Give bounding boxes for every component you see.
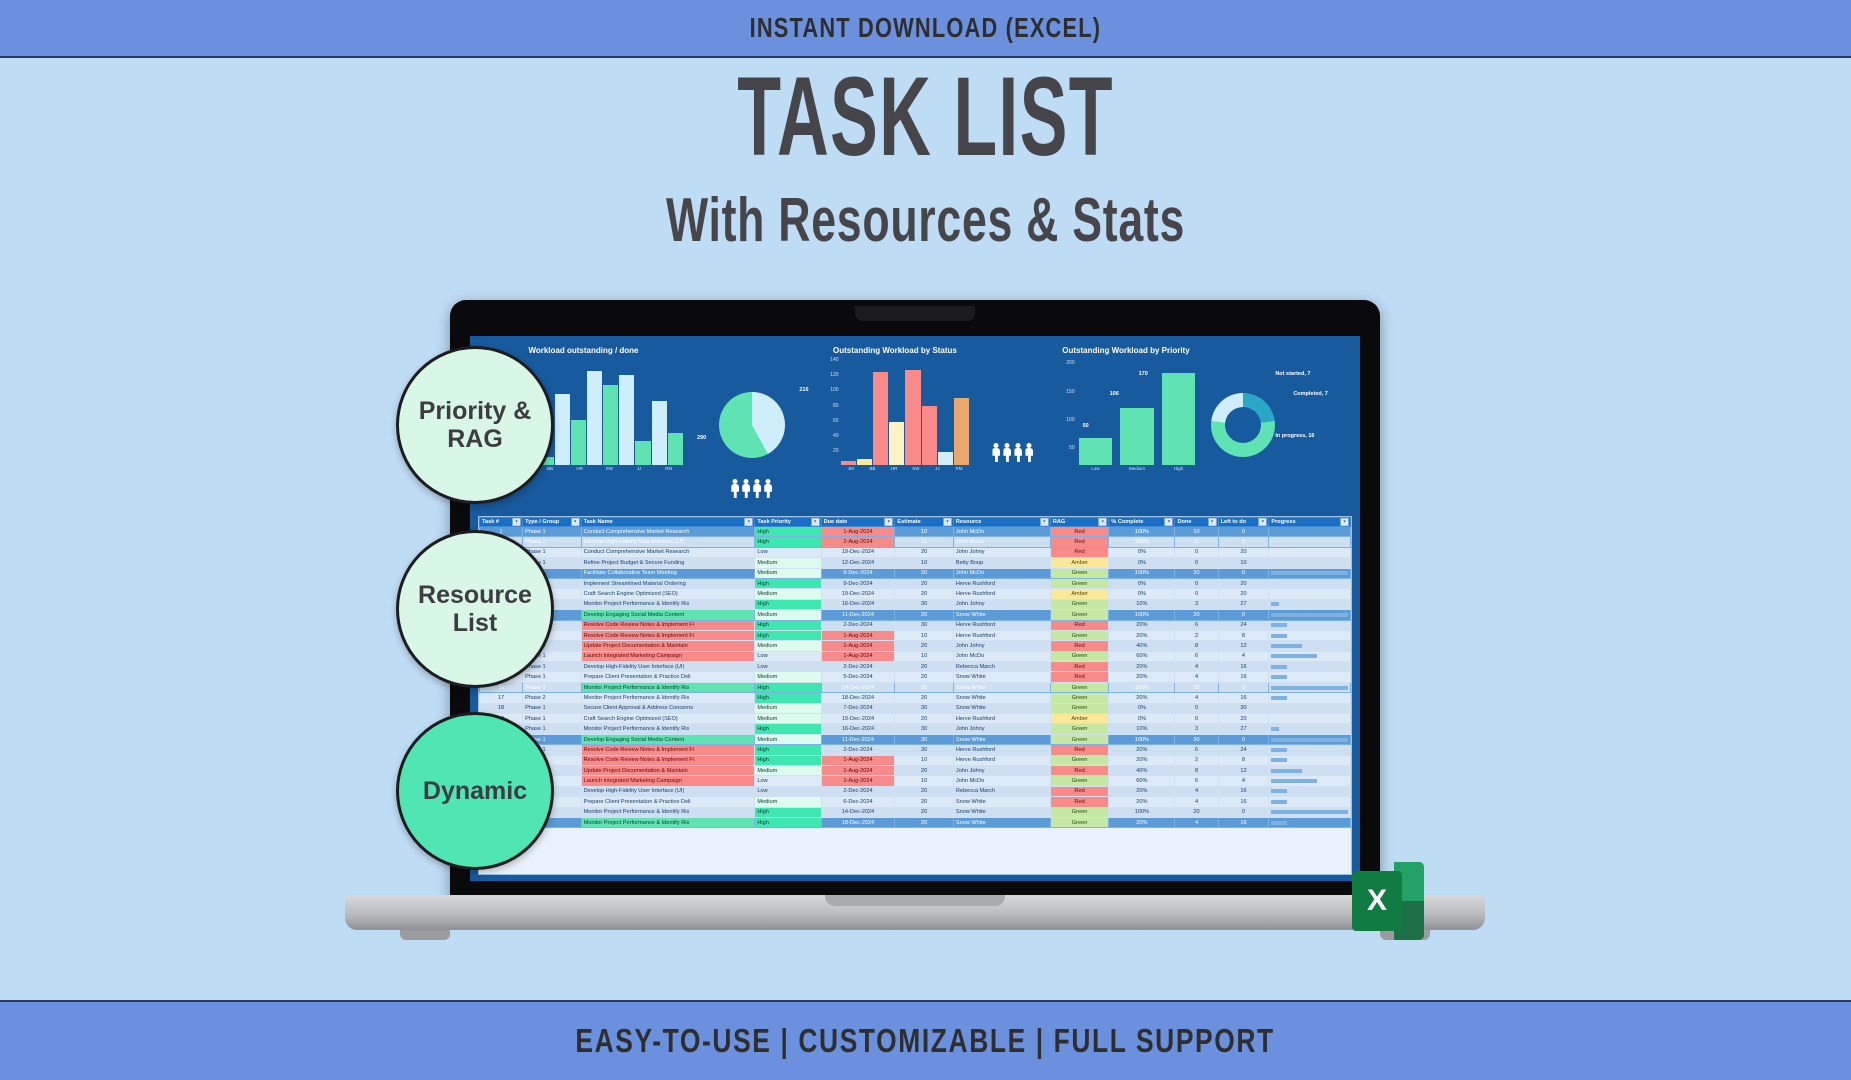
cell-progress[interactable] <box>1269 620 1351 630</box>
table-row[interactable]: 18Phase 1Secure Client Approval & Addres… <box>480 703 1351 713</box>
cell-estimate[interactable]: 20 <box>895 797 953 807</box>
cell-rag[interactable]: Red <box>1050 620 1108 630</box>
cell-task-name[interactable]: Develop Engaging Social Media Content <box>581 610 755 620</box>
cell-task-name[interactable]: Develop Engaging Social Media Content <box>581 734 755 744</box>
cell-estimate[interactable]: 20 <box>895 714 953 724</box>
cell-percent-complete[interactable]: 20% <box>1109 693 1175 703</box>
cell-due-date[interactable]: 16-Dec-2024 <box>821 599 895 609</box>
cell-resource[interactable]: John Johny <box>953 724 1050 734</box>
cell-percent-complete[interactable]: 20% <box>1109 797 1175 807</box>
cell-percent-complete[interactable]: 20% <box>1109 662 1175 672</box>
cell-done[interactable]: 0 <box>1175 547 1218 557</box>
cell-progress[interactable] <box>1269 568 1351 578</box>
cell-due-date[interactable]: 1-Aug-2024 <box>821 765 895 775</box>
cell-task-priority[interactable]: High <box>755 578 821 588</box>
cell-type-group[interactable]: Phase 1 <box>523 724 581 734</box>
cell-percent-complete[interactable]: 20% <box>1109 817 1175 827</box>
cell-task-name[interactable]: Refine Project Budget & Secure Funding <box>581 558 755 568</box>
cell-task-priority[interactable]: High <box>755 745 821 755</box>
cell-done[interactable]: 4 <box>1175 786 1218 796</box>
cell-due-date[interactable]: 12-Dec-2024 <box>821 558 895 568</box>
cell-estimate[interactable]: 20 <box>895 807 953 817</box>
column-header-resource[interactable]: Resource▾ <box>953 518 1050 527</box>
cell-percent-complete[interactable]: 100% <box>1109 807 1175 817</box>
badge-priority-rag[interactable]: Priority & RAG <box>396 346 554 504</box>
cell-task-name[interactable]: Prepare Client Presentation & Practice D… <box>581 672 755 682</box>
cell-due-date[interactable]: 18-Dec-2024 <box>821 817 895 827</box>
cell-percent-complete[interactable]: 100% <box>1109 537 1175 547</box>
column-header-due-date[interactable]: Due date▾ <box>821 518 895 527</box>
cell-left-to-do[interactable]: 20 <box>1218 714 1269 724</box>
cell-due-date[interactable]: 1-Aug-2024 <box>821 630 895 640</box>
table-row[interactable]: 23Phase 1Resolve Code Review Notes & Imp… <box>480 755 1351 765</box>
cell-task-priority[interactable]: Medium <box>755 714 821 724</box>
column-header-percent-complete[interactable]: % Complete▾ <box>1109 518 1175 527</box>
cell-estimate[interactable]: 30 <box>895 620 953 630</box>
cell-task-priority[interactable]: Low <box>755 662 821 672</box>
cell-resource[interactable]: John Johny <box>953 641 1050 651</box>
table-row[interactable]: 24Phase 1Update Project Documentation & … <box>480 765 1351 775</box>
filter-dropdown-icon[interactable]: ▾ <box>512 518 521 527</box>
cell-progress[interactable] <box>1269 776 1351 786</box>
cell-left-to-do[interactable]: 16 <box>1218 662 1269 672</box>
cell-type-group[interactable]: Phase 1 <box>523 527 581 537</box>
cell-due-date[interactable]: 2-Dec-2024 <box>821 786 895 796</box>
cell-left-to-do[interactable]: 0 <box>1218 610 1269 620</box>
cell-task-priority[interactable]: High <box>755 527 821 537</box>
cell-rag[interactable]: Red <box>1050 672 1108 682</box>
cell-left-to-do[interactable]: 0 <box>1218 537 1269 547</box>
cell-task-name[interactable]: Monitor Project Performance & Identify R… <box>581 817 755 827</box>
table-row[interactable]: 16Phase 1Monitor Project Performance & I… <box>480 682 1351 692</box>
cell-estimate[interactable]: 20 <box>895 672 953 682</box>
cell-due-date[interactable]: 2-Dec-2024 <box>821 662 895 672</box>
cell-task-name[interactable]: Monitor Project Performance & Identify R… <box>581 807 755 817</box>
cell-done[interactable]: 20 <box>1175 682 1218 692</box>
cell-left-to-do[interactable]: 12 <box>1218 641 1269 651</box>
cell-due-date[interactable]: 11-Dec-2024 <box>821 610 895 620</box>
cell-left-to-do[interactable]: 0 <box>1218 734 1269 744</box>
filter-dropdown-icon[interactable]: ▾ <box>1164 518 1173 527</box>
cell-resource[interactable]: Snow White <box>953 734 1050 744</box>
cell-left-to-do[interactable]: 30 <box>1218 703 1269 713</box>
cell-resource[interactable]: Herve Rushford <box>953 630 1050 640</box>
cell-left-to-do[interactable]: 20 <box>1218 578 1269 588</box>
table-row[interactable]: 4Phase 1Refine Project Budget & Secure F… <box>480 558 1351 568</box>
cell-left-to-do[interactable]: 16 <box>1218 693 1269 703</box>
filter-dropdown-icon[interactable]: ▾ <box>1340 518 1349 527</box>
cell-task-priority[interactable]: High <box>755 620 821 630</box>
cell-resource[interactable]: Snow White <box>953 807 1050 817</box>
cell-done[interactable]: 8 <box>1175 641 1218 651</box>
cell-due-date[interactable]: 2-Dec-2024 <box>821 620 895 630</box>
cell-progress[interactable] <box>1269 693 1351 703</box>
table-row[interactable]: 3Phase 1Conduct Comprehensive Market Res… <box>480 547 1351 557</box>
cell-resource[interactable]: Snow White <box>953 817 1050 827</box>
cell-rag[interactable]: Red <box>1050 745 1108 755</box>
cell-done[interactable]: 0 <box>1175 558 1218 568</box>
cell-left-to-do[interactable]: 4 <box>1218 776 1269 786</box>
cell-estimate[interactable]: 20 <box>895 662 953 672</box>
cell-rag[interactable]: Green <box>1050 724 1108 734</box>
cell-task-priority[interactable]: High <box>755 537 821 547</box>
cell-task-priority[interactable]: Medium <box>755 734 821 744</box>
badge-dynamic[interactable]: Dynamic <box>396 712 554 870</box>
filter-dropdown-icon[interactable]: ▾ <box>1208 518 1217 527</box>
cell-estimate[interactable]: 10 <box>895 558 953 568</box>
cell-left-to-do[interactable]: 12 <box>1218 765 1269 775</box>
cell-estimate[interactable]: 30 <box>895 745 953 755</box>
cell-rag[interactable]: Green <box>1050 776 1108 786</box>
cell-done[interactable]: 30 <box>1175 734 1218 744</box>
cell-percent-complete[interactable]: 100% <box>1109 527 1175 537</box>
cell-task-name[interactable]: Secure Client Approval & Address Concern… <box>581 703 755 713</box>
cell-type-group[interactable]: Phase 2 <box>523 693 581 703</box>
cell-left-to-do[interactable]: 20 <box>1218 547 1269 557</box>
filter-dropdown-icon[interactable]: ▾ <box>884 518 893 527</box>
cell-rag[interactable]: Green <box>1050 755 1108 765</box>
cell-progress[interactable] <box>1269 589 1351 599</box>
cell-resource[interactable]: Rebecca March <box>953 786 1050 796</box>
filter-dropdown-icon[interactable]: ▾ <box>1040 518 1049 527</box>
cell-resource[interactable]: Snow White <box>953 693 1050 703</box>
cell-percent-complete[interactable]: 20% <box>1109 672 1175 682</box>
cell-resource[interactable]: Herve Rushford <box>953 755 1050 765</box>
cell-resource[interactable]: Herve Rushford <box>953 589 1050 599</box>
cell-due-date[interactable]: 1-Aug-2024 <box>821 651 895 661</box>
cell-resource[interactable]: John McDo <box>953 568 1050 578</box>
cell-estimate[interactable]: 20 <box>895 610 953 620</box>
cell-percent-complete[interactable]: 0% <box>1109 547 1175 557</box>
column-header-task-name[interactable]: Task Name▾ <box>581 518 755 527</box>
cell-resource[interactable]: John Johny <box>953 765 1050 775</box>
cell-left-to-do[interactable]: 16 <box>1218 786 1269 796</box>
cell-estimate[interactable]: 20 <box>895 817 953 827</box>
cell-due-date[interactable]: 16-Dec-2024 <box>821 724 895 734</box>
cell-percent-complete[interactable]: 60% <box>1109 651 1175 661</box>
cell-due-date[interactable]: 1-Aug-2024 <box>821 641 895 651</box>
cell-rag[interactable]: Green <box>1050 807 1108 817</box>
cell-done[interactable]: 4 <box>1175 693 1218 703</box>
cell-task-name[interactable]: Resolve Code Review Notes & Implement Fi <box>581 745 755 755</box>
cell-type-group[interactable]: Phase 1 <box>523 672 581 682</box>
badge-resource-list[interactable]: Resource List <box>396 530 554 688</box>
table-row[interactable]: 28Phase 1Monitor Project Performance & I… <box>480 807 1351 817</box>
cell-rag[interactable]: Green <box>1050 817 1108 827</box>
table-row[interactable]: 19Phase 1Craft Search Engine Optimized (… <box>480 714 1351 724</box>
cell-resource[interactable]: Herve Rushford <box>953 745 1050 755</box>
cell-percent-complete[interactable]: 10% <box>1109 724 1175 734</box>
cell-task-name[interactable]: Develop High-Fidelity User Interface (UI… <box>581 786 755 796</box>
cell-done[interactable]: 20 <box>1175 610 1218 620</box>
cell-task-name[interactable]: Facilitate Collaborative Team Meeting <box>581 568 755 578</box>
cell-estimate[interactable]: 10 <box>895 527 953 537</box>
cell-progress[interactable] <box>1269 558 1351 568</box>
cell-task-priority[interactable]: Medium <box>755 797 821 807</box>
cell-task-name[interactable]: Resolve Code Review Notes & Implement Fi <box>581 620 755 630</box>
cell-due-date[interactable]: 9-Dec-2024 <box>821 578 895 588</box>
cell-progress[interactable] <box>1269 537 1351 547</box>
cell-percent-complete[interactable]: 100% <box>1109 568 1175 578</box>
cell-estimate[interactable]: 20 <box>895 547 953 557</box>
cell-estimate[interactable]: 20 <box>895 578 953 588</box>
cell-due-date[interactable]: 9-Dec-2024 <box>821 568 895 578</box>
cell-done[interactable]: 6 <box>1175 620 1218 630</box>
cell-resource[interactable]: John Johny <box>953 547 1050 557</box>
cell-estimate[interactable]: 30 <box>895 734 953 744</box>
cell-task-priority[interactable]: Medium <box>755 568 821 578</box>
cell-rag[interactable]: Green <box>1050 630 1108 640</box>
cell-task-priority[interactable]: High <box>755 724 821 734</box>
cell-task-priority[interactable]: High <box>755 755 821 765</box>
cell-percent-complete[interactable]: 100% <box>1109 682 1175 692</box>
cell-task-name[interactable]: Launch Integrated Marketing Campaign <box>581 651 755 661</box>
column-header-left-to-do[interactable]: Left to do▾ <box>1218 518 1269 527</box>
filter-dropdown-icon[interactable]: ▾ <box>744 518 753 527</box>
cell-task-name[interactable]: Craft Search Engine Optimized (SEO) <box>581 589 755 599</box>
cell-progress[interactable] <box>1269 641 1351 651</box>
cell-progress[interactable] <box>1269 786 1351 796</box>
cell-due-date[interactable]: 19-Dec-2024 <box>821 589 895 599</box>
column-header-type-group[interactable]: Type / Group▾ <box>523 518 581 527</box>
cell-progress[interactable] <box>1269 662 1351 672</box>
cell-progress[interactable] <box>1269 714 1351 724</box>
cell-task-name[interactable]: Monitor Project Performance & Identify R… <box>581 693 755 703</box>
cell-estimate[interactable]: 10 <box>895 776 953 786</box>
cell-type-group[interactable]: Phase 1 <box>523 682 581 692</box>
cell-left-to-do[interactable]: 24 <box>1218 620 1269 630</box>
table-row[interactable]: 6Phase 2Implement Streamlined Material O… <box>480 578 1351 588</box>
cell-progress[interactable] <box>1269 817 1351 827</box>
cell-progress[interactable] <box>1269 765 1351 775</box>
cell-due-date[interactable]: 11-Dec-2024 <box>821 734 895 744</box>
cell-percent-complete[interactable]: 100% <box>1109 734 1175 744</box>
cell-task-priority[interactable]: High <box>755 693 821 703</box>
cell-percent-complete[interactable]: 20% <box>1109 630 1175 640</box>
cell-task-name[interactable]: Craft Search Engine Optimized (SEO) <box>581 714 755 724</box>
cell-due-date[interactable]: 1-Aug-2024 <box>821 755 895 765</box>
cell-task-priority[interactable]: Medium <box>755 589 821 599</box>
cell-estimate[interactable]: 20 <box>895 786 953 796</box>
cell-done[interactable]: 4 <box>1175 817 1218 827</box>
cell-rag[interactable]: Green <box>1050 651 1108 661</box>
cell-done[interactable]: 2 <box>1175 755 1218 765</box>
table-row[interactable]: 9Phase 1Develop Engaging Social Media Co… <box>480 610 1351 620</box>
cell-progress[interactable] <box>1269 599 1351 609</box>
cell-task-name[interactable]: Develop High-Fidelity User Interface (UI… <box>581 662 755 672</box>
cell-progress[interactable] <box>1269 734 1351 744</box>
cell-rag[interactable]: Red <box>1050 765 1108 775</box>
cell-estimate[interactable]: 10 <box>895 651 953 661</box>
cell-rag[interactable]: Amber <box>1050 589 1108 599</box>
cell-estimate[interactable]: 20 <box>895 693 953 703</box>
cell-resource[interactable]: John McDo <box>953 527 1050 537</box>
cell-task-name[interactable]: Resolve Code Review Notes & Implement Fi <box>581 630 755 640</box>
cell-done[interactable]: 0 <box>1175 714 1218 724</box>
cell-task-name[interactable]: Update Project Documentation & Maintain <box>581 765 755 775</box>
cell-resource[interactable]: John Johny <box>953 599 1050 609</box>
filter-dropdown-icon[interactable]: ▾ <box>811 518 820 527</box>
cell-resource[interactable]: Betty Boop <box>953 558 1050 568</box>
cell-task-name[interactable]: Monitor Project Performance & Identify R… <box>581 724 755 734</box>
cell-left-to-do[interactable]: 8 <box>1218 755 1269 765</box>
table-row[interactable]: 8Phase 1Monitor Project Performance & Id… <box>480 599 1351 609</box>
table-row[interactable]: 26Phase 1Develop High-Fidelity User Inte… <box>480 786 1351 796</box>
cell-progress[interactable] <box>1269 651 1351 661</box>
cell-percent-complete[interactable]: 0% <box>1109 578 1175 588</box>
cell-task-priority[interactable]: Low <box>755 651 821 661</box>
filter-dropdown-icon[interactable]: ▾ <box>1098 518 1107 527</box>
cell-rag[interactable]: Green <box>1050 682 1108 692</box>
cell-resource[interactable]: Herve Rushford <box>953 714 1050 724</box>
table-row[interactable]: 2Phase 1Develop High-Fidelity User Inter… <box>480 537 1351 547</box>
cell-done[interactable]: 0 <box>1175 703 1218 713</box>
cell-task-priority[interactable]: Medium <box>755 703 821 713</box>
column-header-done[interactable]: Done▾ <box>1175 518 1218 527</box>
cell-done[interactable]: 20 <box>1175 807 1218 817</box>
cell-task-number[interactable]: 17 <box>480 693 523 703</box>
cell-done[interactable]: 4 <box>1175 797 1218 807</box>
cell-due-date[interactable]: 7-Dec-2024 <box>821 703 895 713</box>
cell-progress[interactable] <box>1269 672 1351 682</box>
cell-due-date[interactable]: 14-Dec-2024 <box>821 682 895 692</box>
cell-progress[interactable] <box>1269 547 1351 557</box>
cell-left-to-do[interactable]: 4 <box>1218 651 1269 661</box>
cell-task-name[interactable]: Resolve Code Review Notes & Implement Fi <box>581 755 755 765</box>
cell-estimate[interactable]: 10 <box>895 755 953 765</box>
cell-estimate[interactable]: 30 <box>895 599 953 609</box>
cell-left-to-do[interactable]: 0 <box>1218 682 1269 692</box>
cell-percent-complete[interactable]: 60% <box>1109 776 1175 786</box>
cell-task-priority[interactable]: High <box>755 630 821 640</box>
table-row[interactable]: 17Phase 2Monitor Project Performance & I… <box>480 693 1351 703</box>
table-row[interactable]: 13Phase 1Launch Integrated Marketing Cam… <box>480 651 1351 661</box>
cell-task-name[interactable]: Prepare Client Presentation & Practice D… <box>581 797 755 807</box>
cell-done[interactable]: 10 <box>1175 527 1218 537</box>
task-table-container[interactable]: Task #▾ Type / Group▾ Task Name▾ Task Pr… <box>478 516 1352 875</box>
cell-due-date[interactable]: 19-Dec-2024 <box>821 714 895 724</box>
cell-resource[interactable]: Snow White <box>953 703 1050 713</box>
column-header-task-number[interactable]: Task #▾ <box>480 518 523 527</box>
cell-type-group[interactable]: Phase 1 <box>523 537 581 547</box>
cell-done[interactable]: 20 <box>1175 568 1218 578</box>
cell-task-name[interactable]: Update Project Documentation & Maintain <box>581 641 755 651</box>
cell-due-date[interactable]: 6-Dec-2024 <box>821 797 895 807</box>
cell-task-name[interactable]: Develop High-Fidelity User Interface (UI… <box>581 537 755 547</box>
cell-percent-complete[interactable]: 0% <box>1109 714 1175 724</box>
cell-done[interactable]: 3 <box>1175 724 1218 734</box>
table-row[interactable]: 15Phase 1Prepare Client Presentation & P… <box>480 672 1351 682</box>
cell-rag[interactable]: Green <box>1050 734 1108 744</box>
cell-rag[interactable]: Red <box>1050 797 1108 807</box>
cell-due-date[interactable]: 1-Aug-2024 <box>821 776 895 786</box>
cell-resource[interactable]: Snow White <box>953 610 1050 620</box>
cell-rag[interactable]: Amber <box>1050 714 1108 724</box>
cell-percent-complete[interactable]: 20% <box>1109 755 1175 765</box>
cell-estimate[interactable]: 20 <box>895 641 953 651</box>
cell-task-priority[interactable]: High <box>755 599 821 609</box>
cell-rag[interactable]: Red <box>1050 537 1108 547</box>
table-row[interactable]: 21Phase 1Develop Engaging Social Media C… <box>480 734 1351 744</box>
cell-percent-complete[interactable]: 0% <box>1109 589 1175 599</box>
cell-task-priority[interactable]: Medium <box>755 765 821 775</box>
cell-type-group[interactable]: Phase 1 <box>523 703 581 713</box>
cell-done[interactable]: 8 <box>1175 765 1218 775</box>
cell-task-priority[interactable]: Medium <box>755 558 821 568</box>
cell-done[interactable]: 4 <box>1175 672 1218 682</box>
table-row[interactable]: 10Phase 1Resolve Code Review Notes & Imp… <box>480 620 1351 630</box>
cell-percent-complete[interactable]: 40% <box>1109 765 1175 775</box>
cell-left-to-do[interactable]: 10 <box>1218 558 1269 568</box>
cell-task-priority[interactable]: Low <box>755 786 821 796</box>
table-row[interactable]: 12Phase 1Update Project Documentation & … <box>480 641 1351 651</box>
table-row[interactable]: 14Phase 1Develop High-Fidelity User Inte… <box>480 662 1351 672</box>
cell-resource[interactable]: Herve Rushford <box>953 578 1050 588</box>
column-header-rag[interactable]: RAG▾ <box>1050 518 1108 527</box>
column-header-estimate[interactable]: Estimate▾ <box>895 518 953 527</box>
cell-estimate[interactable]: 30 <box>895 703 953 713</box>
table-row[interactable]: 11Phase 1Resolve Code Review Notes & Imp… <box>480 630 1351 640</box>
cell-task-name[interactable]: Conduct Comprehensive Market Research <box>581 547 755 557</box>
cell-progress[interactable] <box>1269 527 1351 537</box>
cell-progress[interactable] <box>1269 610 1351 620</box>
column-header-progress[interactable]: Progress▾ <box>1269 518 1351 527</box>
filter-dropdown-icon[interactable]: ▾ <box>1258 518 1267 527</box>
cell-done[interactable]: 6 <box>1175 776 1218 786</box>
cell-percent-complete[interactable]: 20% <box>1109 745 1175 755</box>
cell-done[interactable]: 11 <box>1175 537 1218 547</box>
cell-percent-complete[interactable]: 20% <box>1109 786 1175 796</box>
table-row[interactable]: 20Phase 1Monitor Project Performance & I… <box>480 724 1351 734</box>
cell-rag[interactable]: Green <box>1050 599 1108 609</box>
cell-estimate[interactable]: 20 <box>895 765 953 775</box>
cell-due-date[interactable]: 5-Dec-2024 <box>821 672 895 682</box>
cell-left-to-do[interactable]: 0 <box>1218 527 1269 537</box>
cell-done[interactable]: 2 <box>1175 630 1218 640</box>
cell-progress[interactable] <box>1269 578 1351 588</box>
cell-left-to-do[interactable]: 20 <box>1218 589 1269 599</box>
cell-resource[interactable]: Herve Rushford <box>953 620 1050 630</box>
cell-resource[interactable]: Rebecca March <box>953 662 1050 672</box>
cell-progress[interactable] <box>1269 807 1351 817</box>
cell-task-priority[interactable]: Low <box>755 547 821 557</box>
cell-type-group[interactable]: Phase 1 <box>523 714 581 724</box>
cell-done[interactable]: 6 <box>1175 745 1218 755</box>
cell-task-priority[interactable]: Medium <box>755 610 821 620</box>
cell-rag[interactable]: Green <box>1050 703 1108 713</box>
cell-rag[interactable]: Red <box>1050 786 1108 796</box>
cell-progress[interactable] <box>1269 745 1351 755</box>
cell-progress[interactable] <box>1269 724 1351 734</box>
cell-progress[interactable] <box>1269 797 1351 807</box>
cell-left-to-do[interactable]: 16 <box>1218 817 1269 827</box>
cell-estimate[interactable]: 30 <box>895 724 953 734</box>
cell-task-name[interactable]: Conduct Comprehensive Market Research <box>581 527 755 537</box>
cell-resource[interactable]: John McDo <box>953 537 1050 547</box>
cell-due-date[interactable]: 2-Dec-2024 <box>821 745 895 755</box>
cell-rag[interactable]: Amber <box>1050 558 1108 568</box>
cell-task-name[interactable]: Launch Integrated Marketing Campaign <box>581 776 755 786</box>
cell-task-priority[interactable]: High <box>755 807 821 817</box>
filter-dropdown-icon[interactable]: ▾ <box>571 518 580 527</box>
column-header-task-priority[interactable]: Task Priority▾ <box>755 518 821 527</box>
table-row[interactable]: 25Phase 1Launch Integrated Marketing Cam… <box>480 776 1351 786</box>
cell-task-priority[interactable]: Medium <box>755 641 821 651</box>
cell-task-priority[interactable]: High <box>755 817 821 827</box>
filter-dropdown-icon[interactable]: ▾ <box>943 518 952 527</box>
cell-left-to-do[interactable]: 16 <box>1218 797 1269 807</box>
cell-task-name[interactable]: Implement Streamlined Material Ordering <box>581 578 755 588</box>
